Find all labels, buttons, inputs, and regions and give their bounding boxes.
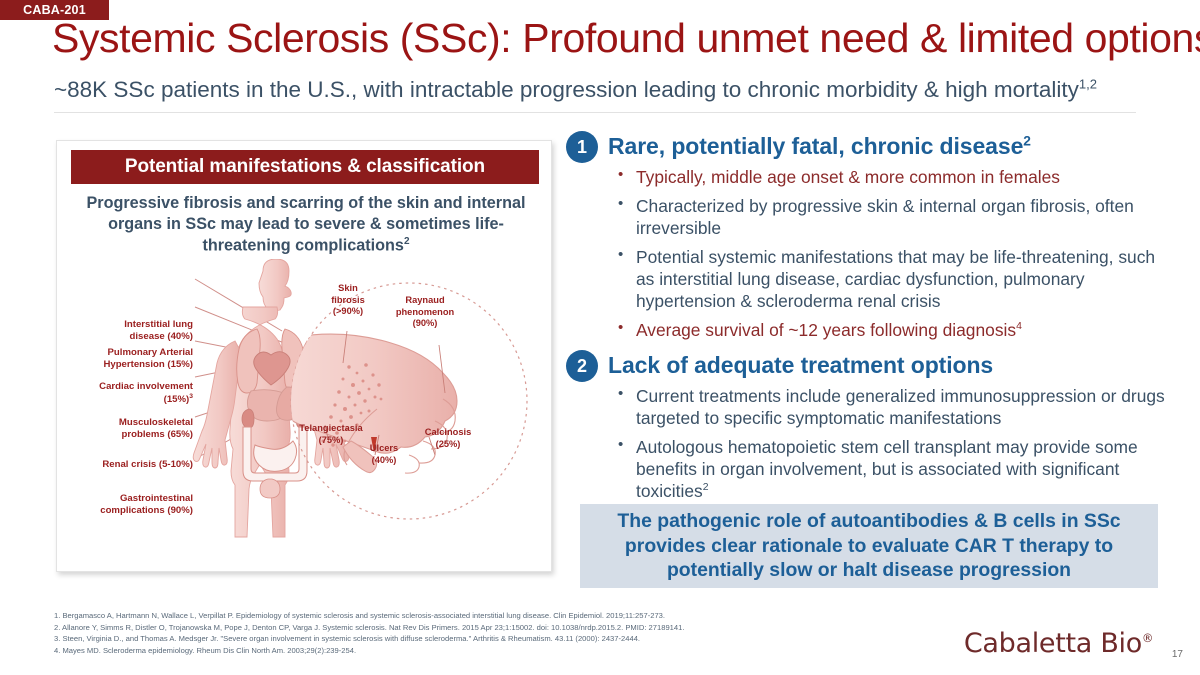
company-logo: Cabaletta Bio®: [964, 628, 1153, 659]
list-item: Autologous hematopoietic stem cell trans…: [618, 437, 1166, 503]
organ-label-gastrointestinal-complications: Gastrointestinal complications (90%): [63, 493, 193, 518]
organ-label-cardiac-involvement: Cardiac involvement (15%)3: [63, 381, 193, 407]
page-title: Systemic Sclerosis (SSc): Profound unmet…: [52, 16, 1162, 62]
organ-label-renal-crisis: Renal crisis (5-10%): [63, 459, 193, 471]
figure-caption: Progressive fibrosis and scarring of the…: [77, 193, 535, 257]
reference-item: 1. Bergamasco A, Hartmann N, Wallace L, …: [54, 610, 954, 622]
section-2-title: Lack of adequate treatment options: [608, 351, 993, 380]
organ-label-reference: 3: [189, 393, 193, 400]
hand-label-ulcers: Ulcers (40%): [357, 443, 411, 466]
kidney-left: [242, 409, 254, 428]
section-2-title-text: Lack of adequate treatment options: [608, 352, 993, 378]
bullet-reference: 4: [1016, 321, 1022, 332]
page-subtitle: ~88K SSc patients in the U.S., with intr…: [54, 76, 1164, 103]
hand-label-calcinosis: Calcinosis (25%): [415, 427, 481, 450]
bullet-text: Average survival of ~12 years following …: [636, 320, 1016, 340]
reference-item: 3. Steen, Virginia D., and Thomas A. Med…: [54, 633, 954, 645]
figure-caption-reference: 2: [404, 236, 410, 247]
page-subtitle-text: ~88K SSc patients in the U.S., with intr…: [54, 77, 1079, 102]
section-1-badge: 1: [566, 131, 598, 163]
section-1-bullet-list: Typically, middle age onset & more commo…: [566, 167, 1166, 341]
reference-item: 2. Allanore Y, Simms R, Distler O, Troja…: [54, 622, 954, 634]
bullet-text: Autologous hematopoietic stem cell trans…: [636, 437, 1138, 501]
organ-label-text: Pulmonary Arterial Hypertension (15%): [103, 347, 193, 370]
bladder: [260, 479, 280, 498]
content-column: 1 Rare, potentially fatal, chronic disea…: [566, 132, 1166, 510]
organ-label-text: Interstitial lung disease (40%): [124, 319, 193, 342]
bullet-text: Characterized by progressive skin & inte…: [636, 196, 1134, 238]
list-item: Current treatments include generalized i…: [618, 386, 1166, 430]
organ-label-text: Renal crisis (5-10%): [102, 459, 193, 470]
organ-label-text: Cardiac involvement (15%): [99, 381, 193, 405]
list-item: Potential systemic manifestations that m…: [618, 247, 1166, 313]
section-1-title-text: Rare, potentially fatal, chronic disease: [608, 133, 1023, 159]
references-list: 1. Bergamasco A, Hartmann N, Wallace L, …: [54, 610, 954, 656]
hand-label-skin-fibrosis: Skin fibrosis (>90%): [317, 283, 379, 318]
page-number: 17: [1172, 649, 1183, 660]
list-item: Characterized by progressive skin & inte…: [618, 196, 1166, 240]
anatomy-svg: [57, 259, 553, 571]
section-2-bullet-list: Current treatments include generalized i…: [566, 386, 1166, 503]
manifestations-figure-card: Potential manifestations & classificatio…: [56, 140, 552, 572]
organ-label-text: Musculoskeletal problems (65%): [119, 417, 193, 440]
organ-label-interstitial-lung-disease: Interstitial lung disease (40%): [63, 319, 193, 344]
company-logo-text: Cabaletta Bio: [964, 628, 1142, 659]
organ-label-musculoskeletal-problems: Musculoskeletal problems (65%): [63, 417, 193, 442]
list-item: Typically, middle age onset & more commo…: [618, 167, 1166, 189]
reference-item: 4. Mayes MD. Scleroderma epidemiology. R…: [54, 645, 954, 657]
section-1-header: 1 Rare, potentially fatal, chronic disea…: [566, 132, 1166, 163]
section-2-badge: 2: [566, 350, 598, 382]
figure-caption-text: Progressive fibrosis and scarring of the…: [87, 194, 526, 255]
hand-label-raynaud-phenomenon: Raynaud phenomenon (90%): [387, 295, 463, 330]
section-1-title-reference: 2: [1023, 133, 1031, 148]
organ-label-text: Gastrointestinal complications (90%): [100, 493, 193, 516]
title-divider: [54, 112, 1136, 113]
section-1-title: Rare, potentially fatal, chronic disease…: [608, 132, 1031, 161]
bullet-text: Current treatments include generalized i…: [636, 386, 1165, 428]
bullet-text: Potential systemic manifestations that m…: [636, 247, 1155, 311]
anatomy-illustration: [57, 259, 553, 571]
organ-label-pulmonary-arterial-hypertension: Pulmonary Arterial Hypertension (15%): [63, 347, 193, 372]
registered-trademark-icon: ®: [1142, 631, 1153, 645]
section-2-header: 2 Lack of adequate treatment options: [566, 351, 1166, 382]
figure-panel-title: Potential manifestations & classificatio…: [71, 150, 539, 184]
bullet-text: Typically, middle age onset & more commo…: [636, 167, 1060, 187]
bullet-reference: 2: [703, 482, 709, 493]
list-item: Average survival of ~12 years following …: [618, 320, 1166, 342]
page-subtitle-reference: 1,2: [1079, 77, 1097, 92]
key-takeaway-callout: The pathogenic role of autoantibodies & …: [580, 504, 1158, 588]
